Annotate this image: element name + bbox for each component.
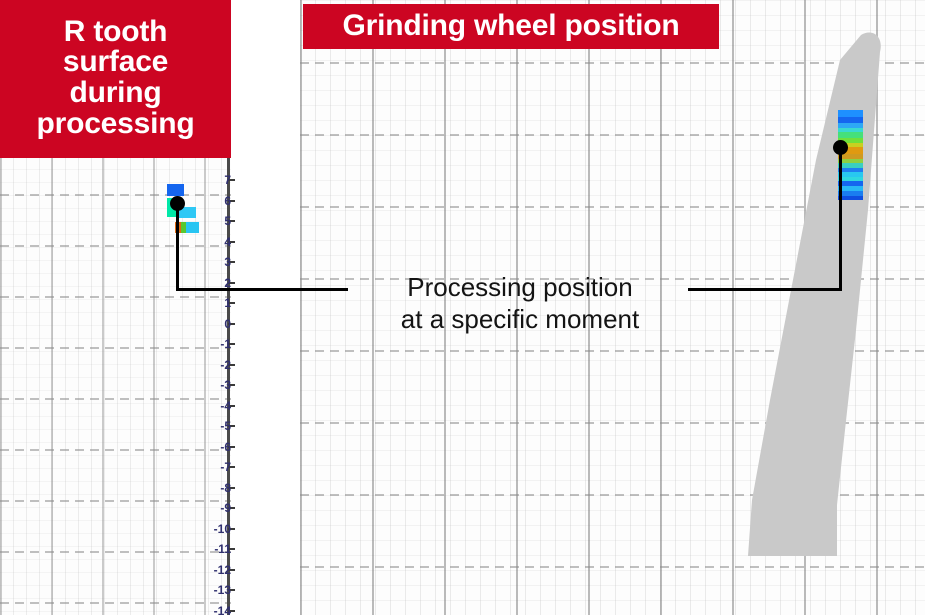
annotation-processing-position: Processing position at a specific moment <box>330 272 710 335</box>
screenshot-root: 76543210-1-2-3-4-5-6-7-8-9-10-11-12-13-1… <box>0 0 925 615</box>
colormap-band <box>838 110 863 117</box>
axis-tick-label: -14 <box>197 604 231 615</box>
grid-dashed-row <box>300 494 925 496</box>
annotation-line-2: at a specific moment <box>330 304 710 336</box>
axis-tick-label: -10 <box>197 522 231 536</box>
grid-dashed-row <box>300 350 925 352</box>
right-leader-horizontal <box>688 288 842 291</box>
banner-right-text: Grinding wheel position <box>342 11 679 42</box>
axis-tick-label: -4 <box>197 399 231 413</box>
banner-left-text: R toothsurfaceduringprocessing <box>36 17 194 139</box>
axis-tick-label: -2 <box>197 358 231 372</box>
axis-tick-label: 4 <box>197 235 231 249</box>
right-leader-vertical <box>839 147 842 291</box>
contact-patch <box>186 222 199 233</box>
left-leader-horizontal <box>176 288 348 291</box>
grid-dashed-row <box>300 566 925 568</box>
grid-dashed-row <box>300 134 925 136</box>
axis-tick-label: 3 <box>197 255 231 269</box>
axis-tick-label: -13 <box>197 583 231 597</box>
axis-tick-label: 5 <box>197 214 231 228</box>
axis-tick-label: -3 <box>197 378 231 392</box>
axis-tick-label: -8 <box>197 481 231 495</box>
banner-left-line-3: during <box>36 78 194 109</box>
grid-dashed-row <box>300 422 925 424</box>
axis-tick-label: -12 <box>197 563 231 577</box>
axis-tick-label: -1 <box>197 337 231 351</box>
banner-r-tooth-surface: R toothsurfaceduringprocessing <box>0 0 231 158</box>
panel-divider-gap <box>231 0 300 615</box>
axis-tick-label: 6 <box>197 194 231 208</box>
banner-grinding-wheel-position: Grinding wheel position <box>303 4 719 49</box>
axis-tick-label: -5 <box>197 419 231 433</box>
left-leader-vertical <box>176 203 179 291</box>
banner-left-line-4: processing <box>36 109 194 140</box>
axis-tick-label: -7 <box>197 460 231 474</box>
grid-dashed-row <box>300 62 925 64</box>
contact-patch <box>167 184 184 196</box>
axis-tick-label: -6 <box>197 440 231 454</box>
banner-left-line-2: surface <box>36 47 194 78</box>
banner-left-line-1: R tooth <box>36 17 194 48</box>
grid-dashed-row <box>300 206 925 208</box>
axis-tick-label: -11 <box>197 542 231 556</box>
axis-tick-label: 7 <box>197 173 231 187</box>
annotation-line-1: Processing position <box>330 272 710 304</box>
axis-tick-label: -9 <box>197 501 231 515</box>
axis-tick-label: 1 <box>197 296 231 310</box>
axis-tick-label: 0 <box>197 317 231 331</box>
